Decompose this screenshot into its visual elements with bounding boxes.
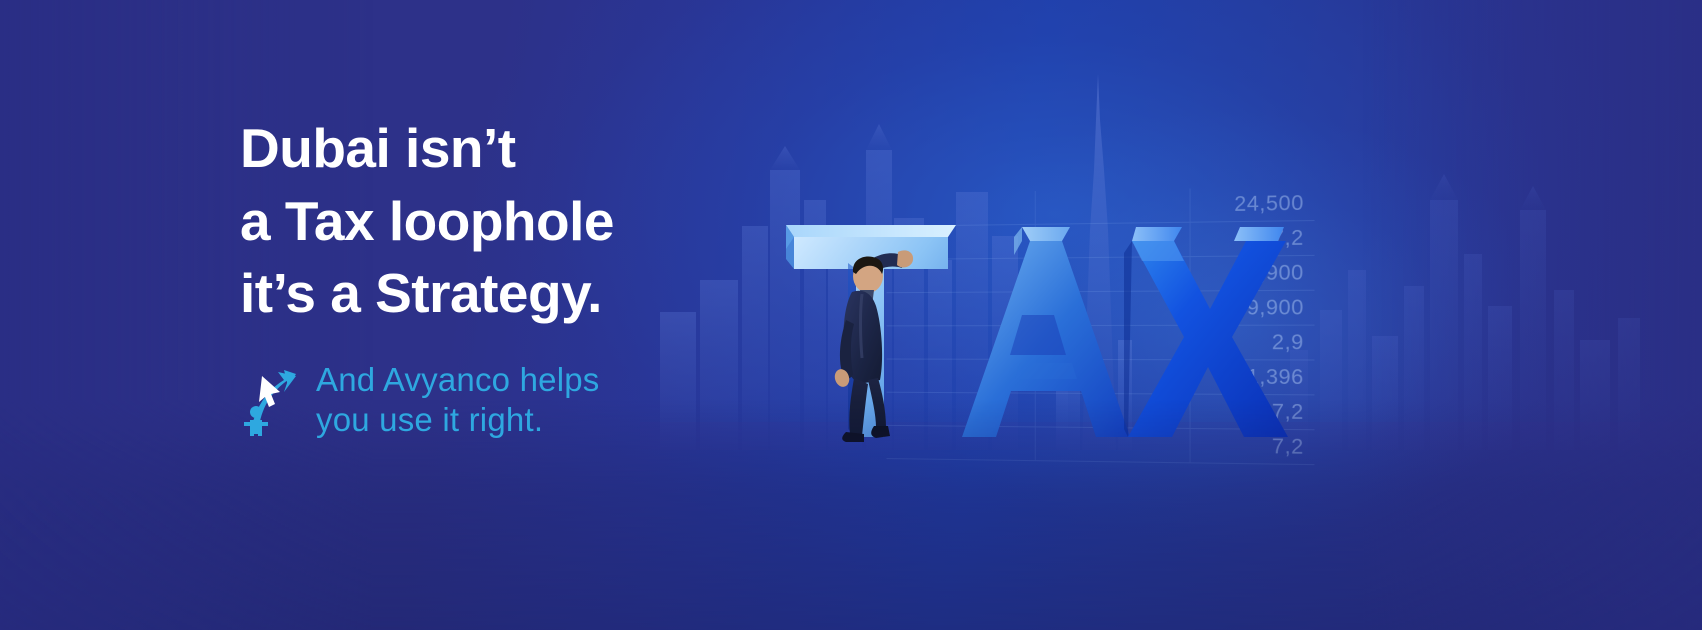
copy-block: Dubai isn’t a Tax loophole it’s a Strate… bbox=[240, 112, 800, 440]
promo-banner: 24,500 7,2 2,900 39,900 2,9 1,396 bbox=[0, 0, 1702, 630]
headline: Dubai isn’t a Tax loophole it’s a Strate… bbox=[240, 112, 800, 330]
subtitle-row: And Avyanco helps you use it right. bbox=[240, 360, 800, 441]
growth-arrow-person-icon bbox=[240, 364, 298, 436]
subtitle: And Avyanco helps you use it right. bbox=[316, 360, 600, 441]
